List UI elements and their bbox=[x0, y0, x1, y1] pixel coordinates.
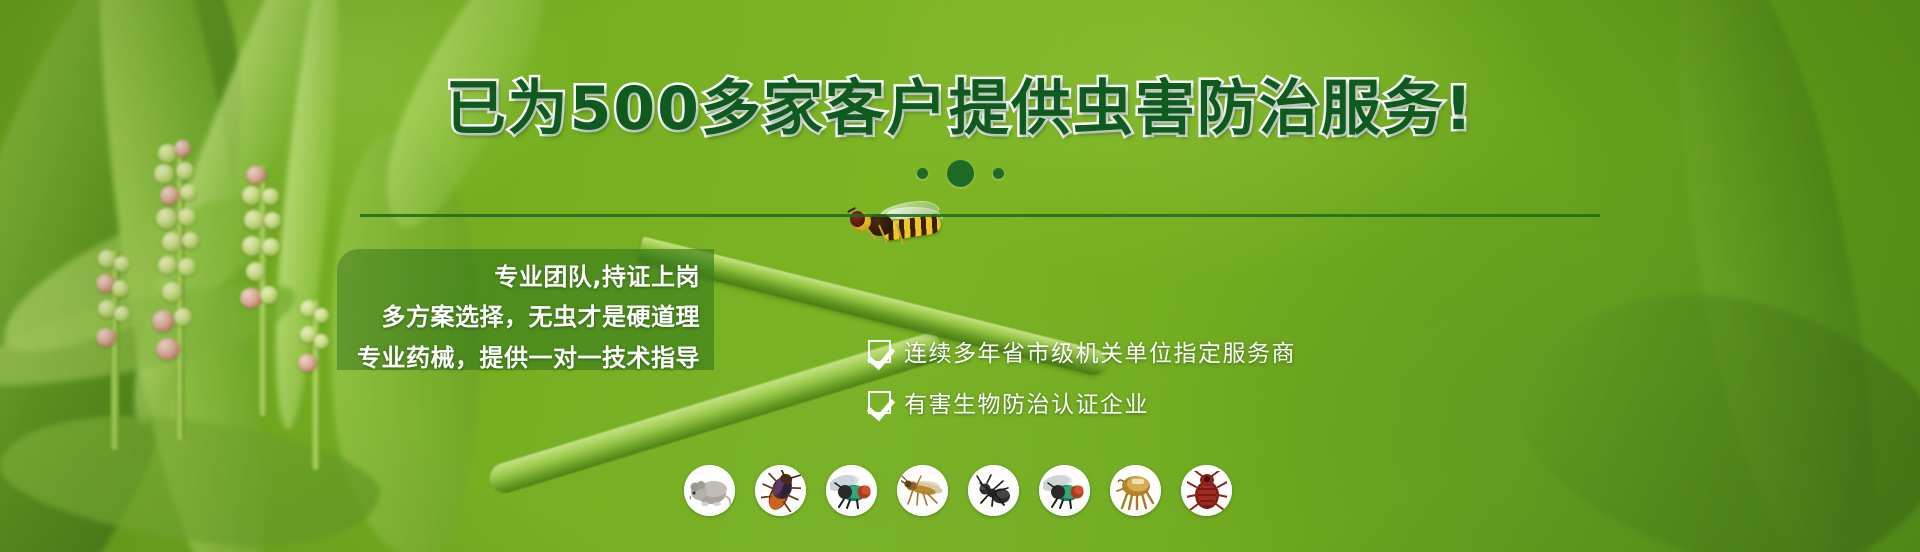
feature-line-3: 专业药械，提供一对一技术指导 bbox=[337, 338, 700, 379]
dot-small-icon bbox=[993, 168, 1004, 179]
decorative-dots bbox=[0, 160, 1920, 187]
mouse-icon[interactable]: 鼠 bbox=[684, 465, 735, 516]
bedbug-icon[interactable]: 臭虫 bbox=[1181, 465, 1232, 516]
checkbox-checked-icon bbox=[868, 340, 891, 363]
blowfly-icon[interactable]: 苍蝇 bbox=[1039, 465, 1090, 516]
checkbox-checked-icon bbox=[868, 391, 891, 414]
feature-panel: 专业团队,持证上岗 多方案选择，无虫才是硬道理 专业药械，提供一对一技术指导 bbox=[337, 249, 714, 370]
hoverfly-photo bbox=[845, 200, 960, 252]
pest-icon-row: 鼠 蟑螂 bbox=[684, 465, 1232, 516]
blowfly-icon[interactable]: 苍蝇 bbox=[826, 465, 877, 516]
credential-label: 有害生物防治认证企业 bbox=[904, 385, 1149, 419]
credential-label: 连续多年省市级机关单位指定服务商 bbox=[904, 334, 1296, 368]
banner-headline: 已为500多家客户提供虫害防治服务! bbox=[0, 76, 1920, 142]
mosquito-icon[interactable]: 蚊 bbox=[897, 465, 948, 516]
dot-large-icon bbox=[947, 160, 974, 187]
horizontal-divider bbox=[360, 214, 1600, 217]
flea-icon[interactable]: 跳蚤 bbox=[1110, 465, 1161, 516]
ant-icon[interactable]: 蚂蚁 bbox=[968, 465, 1019, 516]
feature-line-2: 多方案选择，无虫才是硬道理 bbox=[337, 297, 700, 338]
credential-item: 连续多年省市级机关单位指定服务商 bbox=[868, 334, 1296, 368]
feature-line-1: 专业团队,持证上岗 bbox=[337, 258, 700, 297]
cockroach-icon[interactable]: 蟑螂 bbox=[755, 465, 806, 516]
credential-item: 有害生物防治认证企业 bbox=[868, 385, 1296, 419]
pest-control-hero-banner: 已为500多家客户提供虫害防治服务! 专业团队,持证上岗 多方案选择，无虫才是硬… bbox=[0, 0, 1920, 552]
credential-list: 连续多年省市级机关单位指定服务商 有害生物防治认证企业 bbox=[868, 334, 1296, 419]
dot-small-icon bbox=[917, 168, 928, 179]
